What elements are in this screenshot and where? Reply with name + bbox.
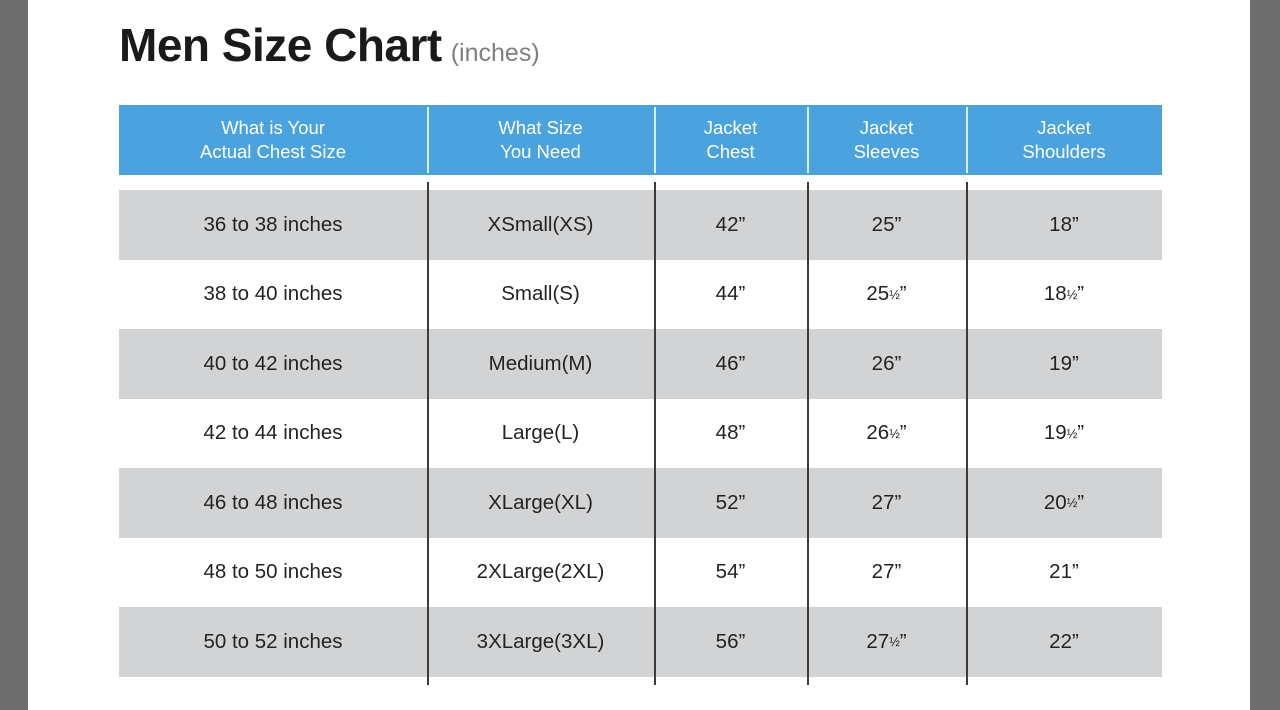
column-header-line2: Actual Chest Size xyxy=(200,140,346,164)
cell-actual-chest-size: 46 to 48 inches xyxy=(119,468,427,538)
cell-jacket-shoulders: 21” xyxy=(966,538,1162,608)
column-header-line2: You Need xyxy=(500,140,581,164)
column-header-line1: Jacket xyxy=(860,116,913,140)
cell-jacket-sleeves: 27½” xyxy=(807,607,966,677)
cell-jacket-chest: 54” xyxy=(654,538,807,608)
table-row: 40 to 42 inches Medium(M) 46” 26” 19” xyxy=(119,329,1162,399)
column-header-jacket-chest: Jacket Chest xyxy=(654,105,807,175)
cell-jacket-sleeves: 27” xyxy=(807,468,966,538)
cell-jacket-shoulders: 22” xyxy=(966,607,1162,677)
cell-jacket-shoulders: 19½” xyxy=(966,399,1162,469)
column-header-line1: Jacket xyxy=(1037,116,1090,140)
cell-jacket-shoulders: 18½” xyxy=(966,260,1162,330)
column-header-line2: Shoulders xyxy=(1022,140,1105,164)
cell-jacket-sleeves: 27” xyxy=(807,538,966,608)
table-row: 42 to 44 inches Large(L) 48” 26½” 19½” xyxy=(119,399,1162,469)
table-row: 50 to 52 inches 3XLarge(3XL) 56” 27½” 22… xyxy=(119,607,1162,677)
cell-actual-chest-size: 50 to 52 inches xyxy=(119,607,427,677)
cell-jacket-shoulders: 19” xyxy=(966,329,1162,399)
table-row: 36 to 38 inches XSmall(XS) 42” 25” 18” xyxy=(119,190,1162,260)
cell-size-you-need: Small(S) xyxy=(427,260,654,330)
table-row: 38 to 40 inches Small(S) 44” 25½” 18½” xyxy=(119,260,1162,330)
cell-jacket-chest: 48” xyxy=(654,399,807,469)
cell-jacket-chest: 56” xyxy=(654,607,807,677)
table-row: 48 to 50 inches 2XLarge(2XL) 54” 27” 21” xyxy=(119,538,1162,608)
cell-actual-chest-size: 38 to 40 inches xyxy=(119,260,427,330)
cell-actual-chest-size: 40 to 42 inches xyxy=(119,329,427,399)
cell-jacket-chest: 44” xyxy=(654,260,807,330)
cell-size-you-need: XSmall(XS) xyxy=(427,190,654,260)
cell-jacket-chest: 52” xyxy=(654,468,807,538)
cell-size-you-need: Medium(M) xyxy=(427,329,654,399)
screenshot-stage: Men Size Chart (inches) What is Your Act… xyxy=(0,0,1280,710)
cell-jacket-chest: 42” xyxy=(654,190,807,260)
table-header-row: What is Your Actual Chest Size What Size… xyxy=(119,105,1162,175)
cell-size-you-need: Large(L) xyxy=(427,399,654,469)
cell-size-you-need: 3XLarge(3XL) xyxy=(427,607,654,677)
column-header-line2: Sleeves xyxy=(854,140,920,164)
page-title: Men Size Chart (inches) xyxy=(119,22,540,68)
table-body: 36 to 38 inches XSmall(XS) 42” 25” 18” 3… xyxy=(119,190,1162,677)
column-header-line1: What Size xyxy=(498,116,582,140)
cell-jacket-shoulders: 18” xyxy=(966,190,1162,260)
cell-size-you-need: XLarge(XL) xyxy=(427,468,654,538)
cell-jacket-sleeves: 25” xyxy=(807,190,966,260)
letterbox-band-right xyxy=(1250,0,1280,710)
size-chart-canvas: Men Size Chart (inches) What is Your Act… xyxy=(28,0,1250,710)
cell-actual-chest-size: 48 to 50 inches xyxy=(119,538,427,608)
table-row: 46 to 48 inches XLarge(XL) 52” 27” 20½” xyxy=(119,468,1162,538)
column-header-jacket-sleeves: Jacket Sleeves xyxy=(807,105,966,175)
column-header-line1: Jacket xyxy=(704,116,757,140)
cell-jacket-sleeves: 25½” xyxy=(807,260,966,330)
column-header-actual-chest-size: What is Your Actual Chest Size xyxy=(119,105,427,175)
column-header-line1: What is Your xyxy=(221,116,325,140)
cell-jacket-chest: 46” xyxy=(654,329,807,399)
cell-actual-chest-size: 36 to 38 inches xyxy=(119,190,427,260)
letterbox-band-left xyxy=(0,0,28,710)
column-header-line2: Chest xyxy=(706,140,754,164)
column-header-jacket-shoulders: Jacket Shoulders xyxy=(966,105,1162,175)
column-header-size-you-need: What Size You Need xyxy=(427,105,654,175)
cell-jacket-sleeves: 26½” xyxy=(807,399,966,469)
cell-actual-chest-size: 42 to 44 inches xyxy=(119,399,427,469)
cell-jacket-shoulders: 20½” xyxy=(966,468,1162,538)
cell-size-you-need: 2XLarge(2XL) xyxy=(427,538,654,608)
page-title-unit: (inches) xyxy=(451,41,540,66)
size-chart-table: What is Your Actual Chest Size What Size… xyxy=(119,105,1162,677)
cell-jacket-sleeves: 26” xyxy=(807,329,966,399)
page-title-main: Men Size Chart xyxy=(119,22,442,68)
